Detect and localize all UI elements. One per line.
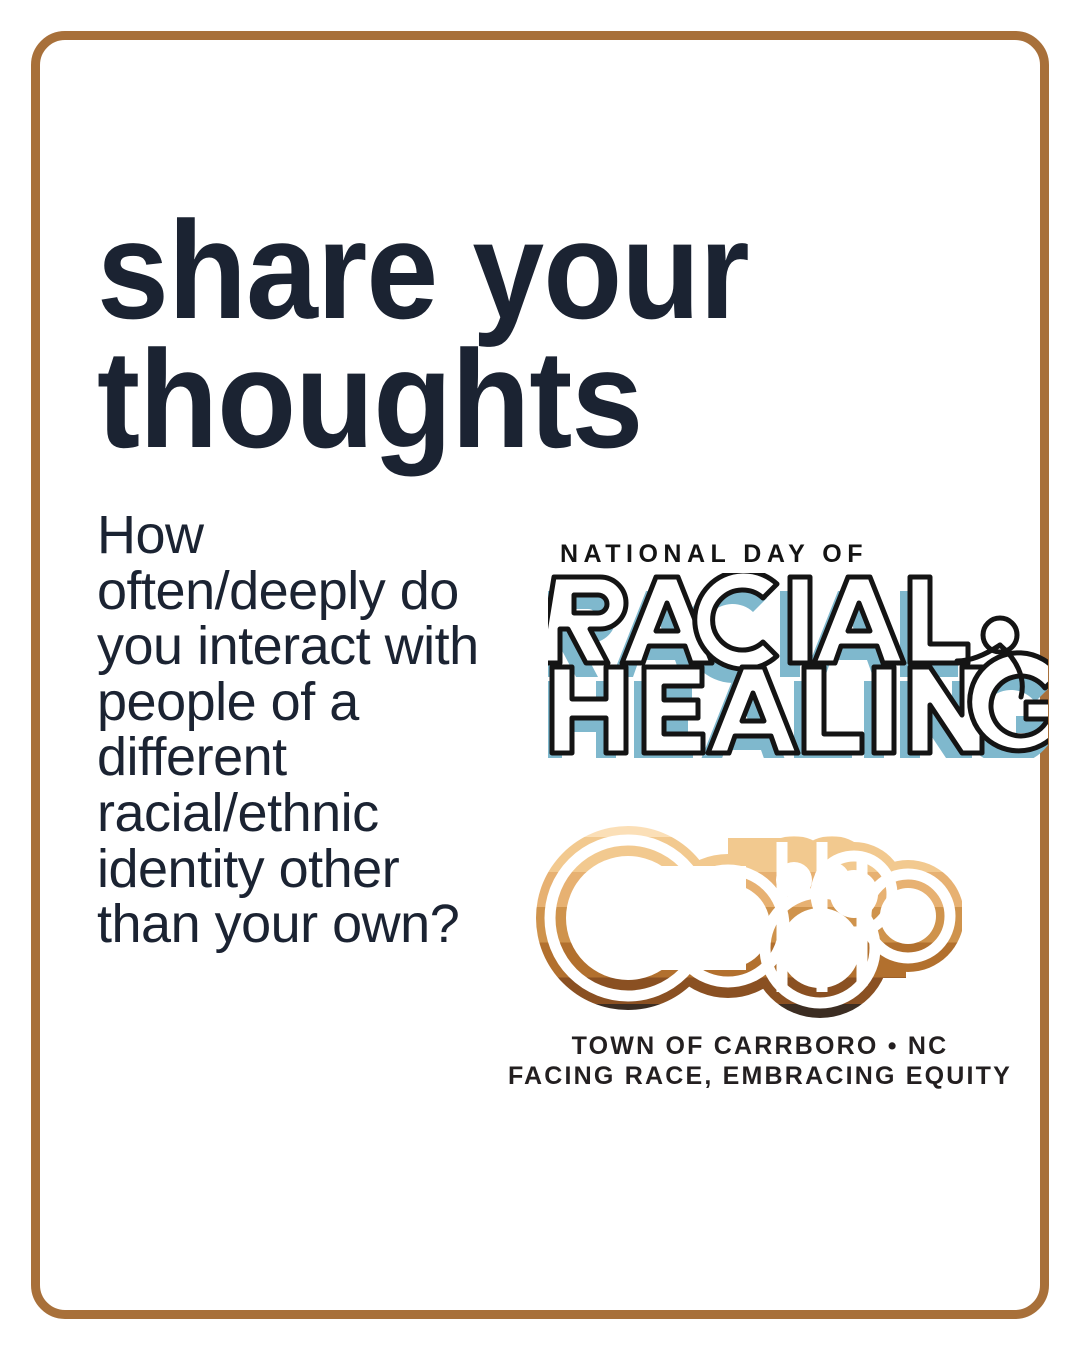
logos-column: NATIONAL DAY OF — [510, 540, 1070, 1091]
question-text: How often/deeply do you interact with pe… — [97, 508, 497, 953]
carrboro-wordmark-svg — [532, 806, 962, 1026]
carrboro-tagline: TOWN OF CARRBORO • NC FACING RACE, EMBRA… — [500, 1032, 1020, 1091]
page-title: share your thoughts — [97, 206, 897, 465]
carrboro-logo — [532, 806, 962, 1026]
poster-card: share your thoughts How often/deeply do … — [31, 31, 1049, 1319]
ndrh-wordmark-svg — [548, 573, 1048, 758]
carrboro-letterforms — [532, 806, 962, 1026]
ndrh-wordmark — [548, 573, 1048, 758]
ndrh-kicker-label: NATIONAL DAY OF — [560, 540, 1068, 569]
national-day-of-racial-healing-logo: NATIONAL DAY OF — [548, 540, 1068, 758]
